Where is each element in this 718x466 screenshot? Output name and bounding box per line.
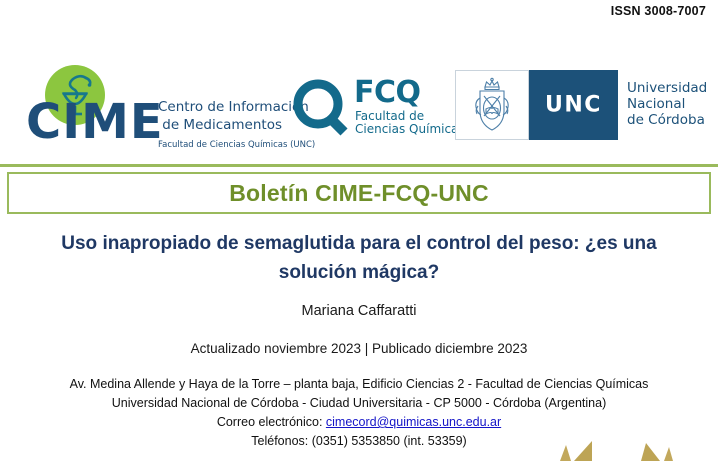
fcq-wordmark: FCQ [354,78,421,108]
contact-block: Av. Medina Allende y Haya de la Torre – … [0,375,718,451]
header-divider [0,164,718,167]
fcq-subtitle: Facultad de Ciencias Químicas [355,110,465,136]
contact-phone: Teléfonos: (0351) 5353850 (int. 53359) [0,432,718,451]
fcq-logo: FCQ Facultad de Ciencias Químicas [292,76,442,142]
fcq-subtitle-line2: Ciencias Químicas [355,122,465,136]
logo-band: CIME Centro de Información de Medicament… [0,62,718,154]
unc-name: Universidad Nacional de Córdoba [627,80,707,128]
cime-subtitle-line2: de Medicamentos [162,117,282,133]
article-title-line1: Uso inapropiado de semaglutida para el c… [61,233,656,254]
unc-name-line3: de Córdoba [627,112,705,128]
cime-subtitle-line1: Centro de Información [158,99,309,115]
bulletin-title: Boletín CIME-FCQ-UNC [229,180,489,207]
contact-address-line1: Av. Medina Allende y Haya de la Torre – … [0,375,718,394]
cime-subtitle: Centro de Información de Medicamentos Fa… [158,98,282,152]
contact-email-link[interactable]: cimecord@quimicas.unc.edu.ar [326,415,501,429]
unc-logo: UNC Universidad Nacional de Córdoba [455,70,700,148]
article-title-line2: solución mágica? [279,262,439,283]
article-author: Mariana Caffaratti [0,303,718,319]
unc-name-line1: Universidad [627,80,707,96]
cime-wordmark: CIME [26,98,164,146]
unc-coat-of-arms-icon [468,76,516,134]
article-title: Uso inapropiado de semaglutida para el c… [30,229,688,287]
contact-address-line2: Universidad Nacional de Córdoba - Ciudad… [0,394,718,413]
fcq-subtitle-line1: Facultad de [355,109,424,123]
cime-logo: CIME Centro de Información de Medicament… [26,62,284,154]
unc-name-line2: Nacional [627,96,685,112]
unc-wordmark: UNC [529,93,618,118]
bulletin-banner: Boletín CIME-FCQ-UNC [7,172,711,214]
article-dates: Actualizado noviembre 2023 | Publicado d… [0,341,718,356]
issn-label: ISSN 3008-7007 [611,4,706,18]
fcq-q-icon [292,78,350,136]
contact-email-label: Correo electrónico: [217,415,326,429]
unc-wordmark-box: UNC [529,70,618,140]
contact-email-line: Correo electrónico: cimecord@quimicas.un… [0,413,718,432]
